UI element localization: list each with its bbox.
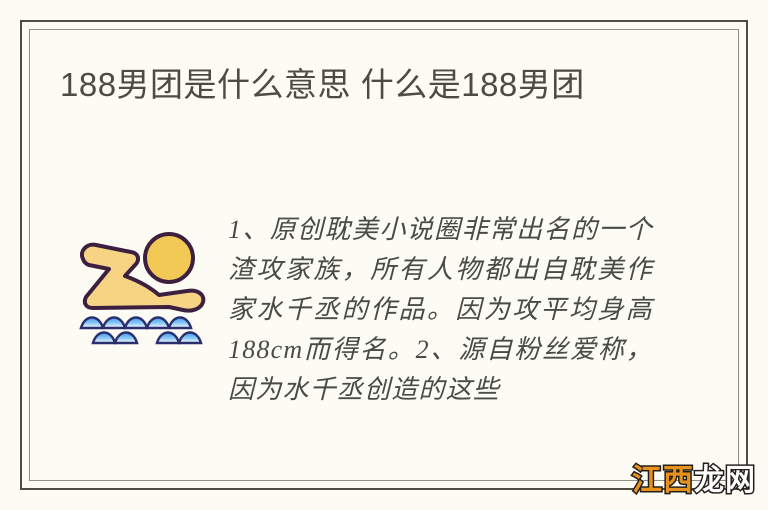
watermark-text-secondary: 龙网 [694, 464, 756, 497]
swimmer-icon [65, 215, 215, 345]
article-body-text: 1、原创耽美小说圈非常出名的一个渣攻家族，所有人物都出自耽美作家水千丞的作品。因… [228, 210, 653, 410]
watermark-text-primary: 江西 [632, 464, 694, 497]
page-title: 188男团是什么意思 什么是188男团 [60, 62, 680, 108]
site-watermark: 江西龙网 [632, 464, 756, 498]
article-page: 188男团是什么意思 什么是188男团 [0, 0, 768, 510]
